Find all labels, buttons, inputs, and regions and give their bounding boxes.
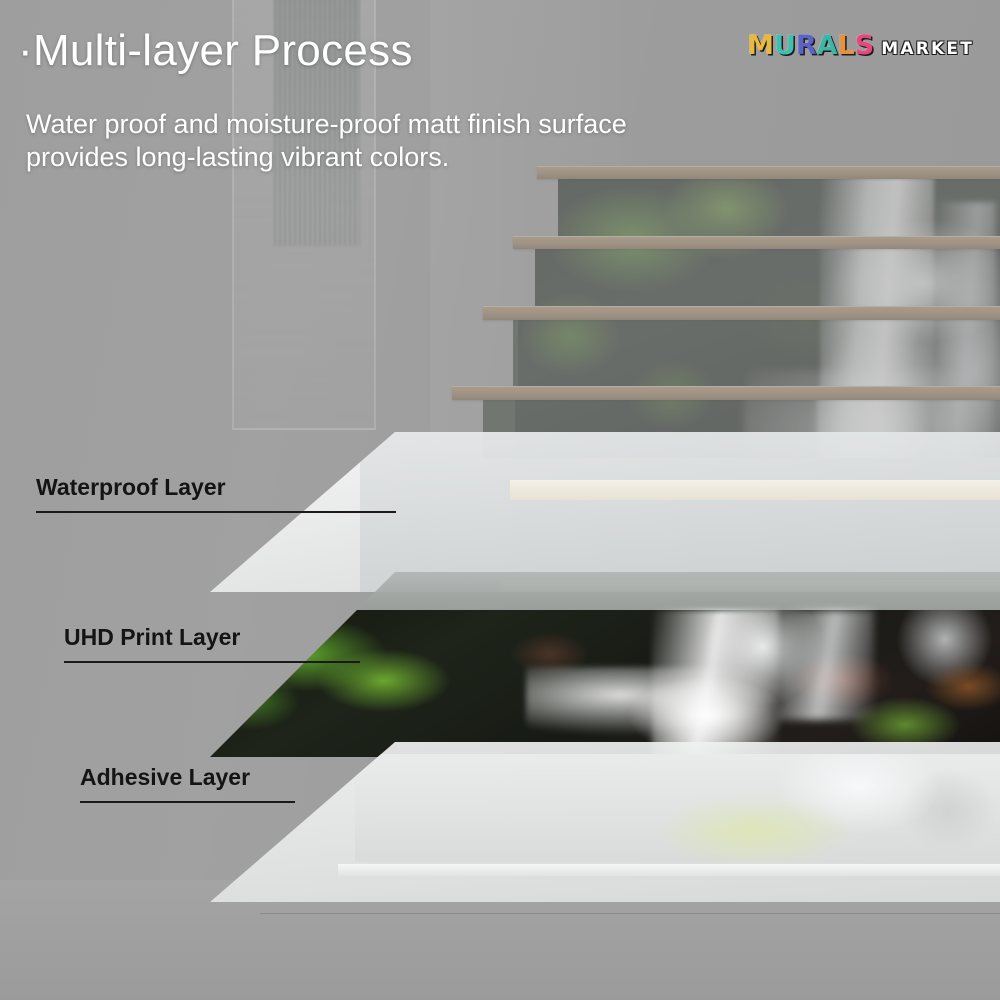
- stair-riser-3: [513, 318, 1000, 390]
- stair-tread-3: [483, 306, 1000, 320]
- logo-letter-r: R: [796, 30, 817, 61]
- logo-letter-a: A: [817, 30, 838, 61]
- logo-letter-u: U: [774, 30, 796, 61]
- layer-label-uhd-print-text: UHD Print Layer: [64, 624, 360, 651]
- floor-seam-line: [260, 913, 1000, 914]
- layer-label-waterproof-rule: [36, 511, 396, 513]
- layer-label-adhesive-rule: [80, 801, 295, 803]
- stair-tread-2: [513, 236, 1000, 249]
- layer-label-uhd-print: UHD Print Layer: [64, 624, 360, 663]
- adhesive-slab-face: [355, 754, 1000, 862]
- stair-riser-1: [558, 176, 1000, 238]
- page-subtitle: Water proof and moisture-proof matt fini…: [26, 108, 627, 174]
- waterproof-step-highlight-top: [510, 480, 1000, 500]
- uhd-waterfall-spray: [526, 667, 795, 737]
- brand-logo[interactable]: M U R A L S MARKET: [747, 30, 974, 61]
- riser-mural-1: [558, 176, 1000, 238]
- adhesive-slab-edge: [338, 864, 1000, 876]
- layer-label-uhd-print-rule: [64, 661, 360, 663]
- brand-logo-market: MARKET: [881, 39, 974, 59]
- layer-label-adhesive: Adhesive Layer: [80, 764, 295, 803]
- logo-letter-m: M: [747, 30, 774, 61]
- stair-tread-4: [452, 386, 1000, 400]
- layer-label-adhesive-text: Adhesive Layer: [80, 764, 295, 791]
- riser-mural-2: [535, 246, 1000, 308]
- logo-letter-s: S: [855, 30, 874, 61]
- infographic-canvas: ·Multi-layer Process Water proof and moi…: [0, 0, 1000, 1000]
- brand-logo-murals: M U R A L S: [747, 30, 874, 61]
- layer-label-waterproof-text: Waterproof Layer: [36, 474, 396, 501]
- riser-mural-3: [518, 318, 1000, 390]
- layer-label-waterproof: Waterproof Layer: [36, 474, 396, 513]
- waterproof-slab-face: [360, 432, 1000, 592]
- page-title: ·Multi-layer Process: [18, 26, 413, 76]
- logo-letter-l: L: [838, 30, 855, 61]
- stair-riser-2: [535, 246, 1000, 308]
- subtitle-line-2: provides long-lasting vibrant colors.: [26, 141, 627, 174]
- subtitle-line-1: Water proof and moisture-proof matt fini…: [26, 108, 627, 141]
